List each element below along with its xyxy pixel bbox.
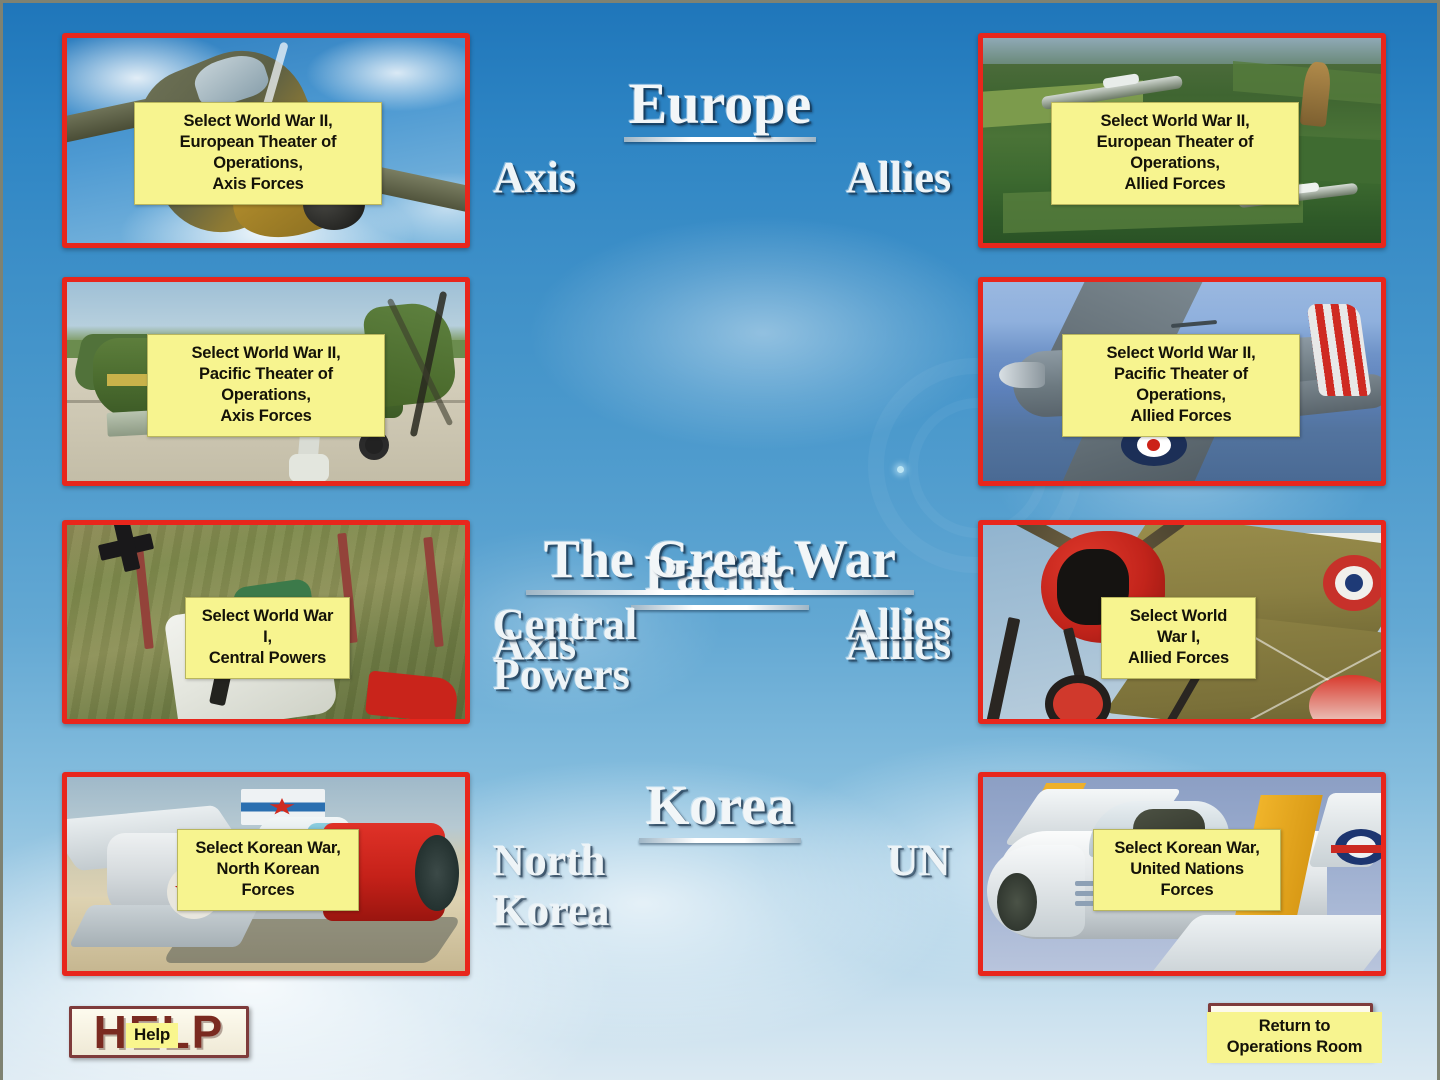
help-button[interactable]: HELP Help: [69, 1006, 249, 1058]
force-label-great-war-central-powers: Central Powers: [493, 600, 637, 700]
era-underline-great-war: [526, 590, 914, 595]
selection-grid: Select World War II, European Theater of…: [3, 3, 1437, 1080]
era-title-korea: Korea: [520, 776, 920, 843]
card-wwii-eto-axis[interactable]: Select World War II, European Theater of…: [62, 33, 470, 248]
tooltip-wwi-central-powers: Select World War I, Central Powers: [185, 597, 350, 679]
tooltip-wwii-pto-allies: Select World War II, Pacific Theater of …: [1062, 334, 1300, 437]
landing-gear-fairing: [289, 454, 329, 481]
era-title-great-war: The Great War: [520, 530, 920, 595]
era-underline-korea: [639, 838, 801, 843]
tooltip-wwi-allied-forces: Select World War I, Allied Forces: [1101, 597, 1256, 679]
tooltip-korea-united-nations: Select Korean War, United Nations Forces: [1093, 829, 1281, 911]
aircraft-wing-near: [69, 905, 259, 947]
era-title-great-war-text: The Great War: [544, 529, 896, 589]
section-pacific: Select World War II, Pacific Theater of …: [3, 277, 1437, 489]
section-korea: Select Korean War, North Korean Forces K…: [3, 772, 1437, 979]
return-to-operations-room-button[interactable]: Return to Operations Room: [1208, 1003, 1373, 1059]
era-underline-europe: [624, 137, 816, 142]
engine-intake: [415, 835, 459, 911]
force-label-europe-axis: Axis: [493, 153, 576, 203]
era-title-europe-text: Europe: [629, 71, 812, 136]
card-wwii-pto-allies[interactable]: Select World War II, Pacific Theater of …: [978, 277, 1386, 486]
tooltip-wwii-eto-allies: Select World War II, European Theater of…: [1051, 102, 1299, 205]
card-wwi-allied-forces[interactable]: Select World War I, Allied Forces: [978, 520, 1386, 724]
era-title-korea-text: Korea: [646, 775, 794, 837]
era-title-europe: Europe: [520, 73, 920, 142]
card-wwii-pto-axis[interactable]: Select World War II, Pacific Theater of …: [62, 277, 470, 486]
force-label-korea-north: North Korea: [493, 836, 610, 936]
horizon-line: [983, 38, 1381, 64]
section-great-war: Select World War I, Central Powers The G…: [3, 520, 1437, 727]
tooltip-help: Help: [126, 1023, 178, 1048]
card-wwi-central-powers[interactable]: Select World War I, Central Powers: [62, 520, 470, 724]
tooltip-korea-north-korean: Select Korean War, North Korean Forces: [177, 829, 359, 911]
wheel-left: [1045, 675, 1111, 719]
insignia-stripe: [1331, 845, 1381, 853]
aircraft-spinner: [999, 362, 1045, 388]
era-underline-pacific: [631, 605, 809, 610]
tooltip-wwii-eto-axis: Select World War II, European Theater of…: [134, 102, 382, 205]
force-label-korea-un: UN: [887, 836, 951, 886]
allied-roundel: [1323, 555, 1381, 611]
card-korea-north-korean[interactable]: Select Korean War, North Korean Forces: [62, 772, 470, 976]
force-label-europe-allies: Allies: [846, 153, 951, 203]
tooltip-return-to-operations-room: Return to Operations Room: [1207, 1012, 1382, 1063]
card-korea-united-nations[interactable]: Select Korean War, United Nations Forces: [978, 772, 1386, 976]
engine-intake: [997, 873, 1037, 931]
application-window: Select World War II, European Theater of…: [0, 0, 1440, 1080]
tooltip-wwii-pto-axis: Select World War II, Pacific Theater of …: [147, 334, 385, 437]
force-label-great-war-allies: Allies: [846, 600, 951, 650]
card-wwii-eto-allies[interactable]: Select World War II, European Theater of…: [978, 33, 1386, 248]
landing-strut-1: [986, 617, 1021, 719]
section-europe: Select World War II, European Theater of…: [3, 33, 1437, 251]
